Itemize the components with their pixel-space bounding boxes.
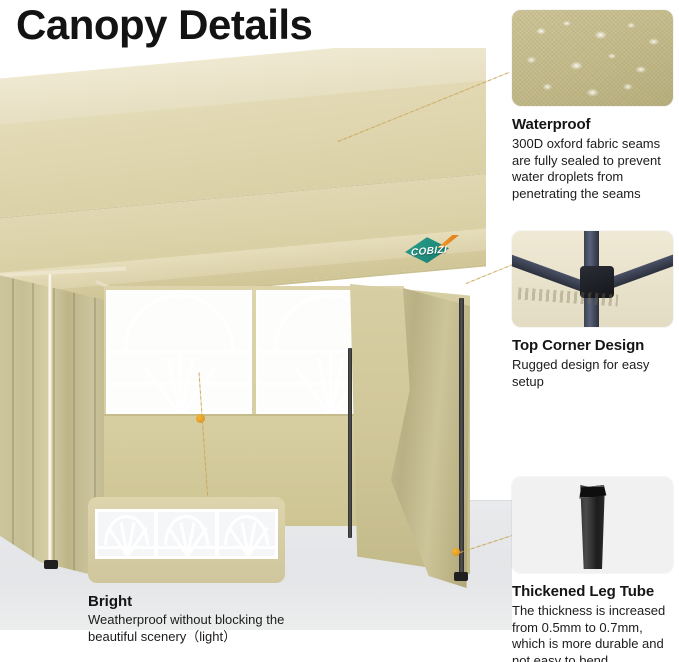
waterproof-thumbnail <box>512 10 673 106</box>
window-pane <box>106 290 252 416</box>
window-pane <box>158 512 214 556</box>
callout-heading: Thickened Leg Tube <box>512 582 679 601</box>
callout-heading: Top Corner Design <box>512 336 679 355</box>
infographic-root: Canopy Details COBIZI <box>0 0 679 662</box>
callout-top-corner-design: Top Corner Design Rugged design for easy… <box>512 231 679 390</box>
callout-body: Rugged design for easy setup <box>512 357 679 390</box>
right-leg-tube <box>459 298 464 576</box>
callout-waterproof: Waterproof 300D oxford fabric seams are … <box>512 10 679 202</box>
marker-dot-leg <box>452 548 460 556</box>
left-foot-plate <box>44 560 58 569</box>
roof-highlight <box>0 48 486 128</box>
callout-bright: Bright Weatherproof without blocking the… <box>88 497 298 645</box>
center-leg-tube <box>348 348 352 538</box>
page-title: Canopy Details <box>16 0 312 54</box>
window-pane <box>98 512 154 556</box>
callout-body: The thickness is increased from 0.5mm to… <box>512 603 679 662</box>
callout-heading: Waterproof <box>512 115 679 134</box>
logo-wordmark: COBIZI <box>411 244 447 258</box>
window-pane <box>219 512 275 556</box>
bright-thumbnail <box>88 497 285 583</box>
right-foot-plate <box>454 572 468 581</box>
callout-thickened-leg-tube: Thickened Leg Tube The thickness is incr… <box>512 477 679 662</box>
callout-body: Weatherproof without blocking the beauti… <box>88 612 298 645</box>
left-upright-pole <box>48 274 52 562</box>
leg-tube-thumbnail <box>512 477 673 573</box>
callout-body: 300D oxford fabric seams are fully seale… <box>512 136 679 202</box>
callout-heading: Bright <box>88 593 298 610</box>
top-corner-thumbnail <box>512 231 673 327</box>
brand-logo: COBIZI <box>397 233 461 269</box>
